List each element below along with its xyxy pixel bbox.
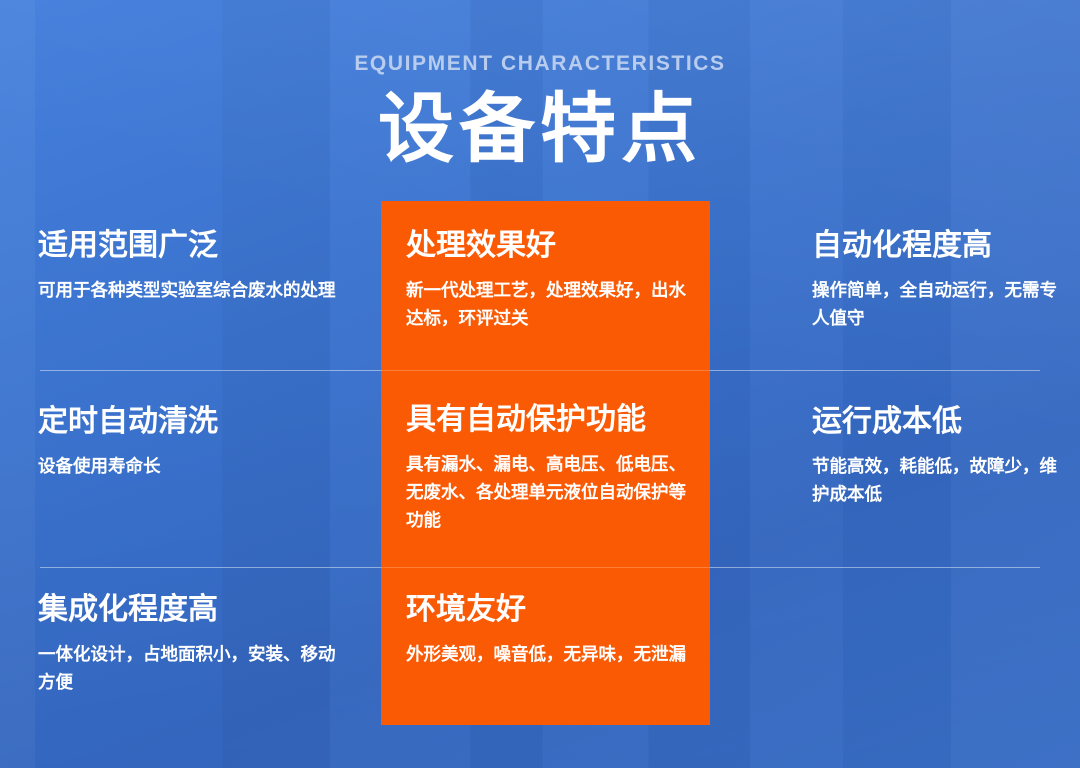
feature-body: 新一代处理工艺，处理效果好，出水达标，环评过关	[406, 276, 694, 332]
feature-body: 节能高效，耗能低，故障少，维护成本低	[812, 452, 1062, 508]
feature-heading: 运行成本低	[812, 404, 1062, 439]
feature-card-middle-1: 处理效果好 新一代处理工艺，处理效果好，出水达标，环评过关	[406, 228, 694, 332]
feature-body: 可用于各种类型实验室综合废水的处理	[38, 276, 338, 304]
page-title: 设备特点	[0, 90, 1080, 170]
feature-heading: 集成化程度高	[38, 592, 338, 627]
feature-heading: 具有自动保护功能	[406, 402, 694, 437]
feature-body: 操作简单，全自动运行，无需专人值守	[812, 276, 1062, 332]
divider-left-row1	[40, 370, 381, 371]
highlight-panel-divider-1	[381, 370, 710, 371]
feature-body: 外形美观，噪音低，无异味，无泄漏	[406, 640, 694, 668]
header-eyebrow: EQUIPMENT CHARACTERISTICS	[0, 53, 1080, 74]
feature-heading: 适用范围广泛	[38, 228, 338, 263]
feature-card-left-3: 集成化程度高 一体化设计，占地面积小，安装、移动方便	[38, 592, 338, 696]
feature-body: 一体化设计，占地面积小，安装、移动方便	[38, 640, 338, 696]
poster-canvas: EQUIPMENT CHARACTERISTICS 设备特点 适用范围广泛 可用…	[0, 0, 1080, 768]
feature-heading: 处理效果好	[406, 228, 694, 263]
divider-right-row2	[710, 567, 1040, 568]
feature-card-left-2: 定时自动清洗 设备使用寿命长	[38, 404, 338, 480]
divider-left-row2	[40, 567, 381, 568]
feature-body: 具有漏水、漏电、高电压、低电压、无废水、各处理单元液位自动保护等功能	[406, 450, 694, 534]
divider-right-row1	[710, 370, 1040, 371]
feature-heading: 环境友好	[406, 592, 694, 627]
feature-card-left-1: 适用范围广泛 可用于各种类型实验室综合废水的处理	[38, 228, 338, 304]
feature-body: 设备使用寿命长	[38, 452, 338, 480]
highlight-panel-divider-2	[381, 567, 710, 568]
page-header: EQUIPMENT CHARACTERISTICS 设备特点	[0, 0, 1080, 170]
feature-card-middle-3: 环境友好 外形美观，噪音低，无异味，无泄漏	[406, 592, 694, 668]
feature-card-middle-2: 具有自动保护功能 具有漏水、漏电、高电压、低电压、无废水、各处理单元液位自动保护…	[406, 402, 694, 534]
feature-card-right-2: 运行成本低 节能高效，耗能低，故障少，维护成本低	[812, 404, 1062, 508]
feature-heading: 自动化程度高	[812, 228, 1062, 263]
feature-heading: 定时自动清洗	[38, 404, 338, 439]
feature-card-right-1: 自动化程度高 操作简单，全自动运行，无需专人值守	[812, 228, 1062, 332]
